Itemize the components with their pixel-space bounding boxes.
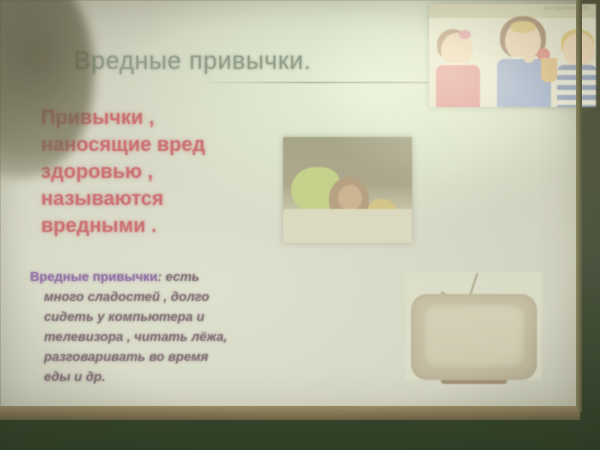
screen-right-frame [576,0,582,412]
photo-projection-wash [283,137,412,243]
child-in-bed-photo [283,137,412,243]
children-cartoon-image: Астраханцев [429,4,596,107]
headline-line-3: здоровью , [41,159,291,186]
cartoon-projection-wash [429,4,596,107]
tv-projection-wash [405,272,542,380]
projected-slide-photo: Вредные привычки. Привычки , наносящие в… [0,0,600,450]
television-illustration [405,272,542,380]
paragraph-line-6: еды и др. [30,367,280,387]
paragraph-line-1: Вредные привычки: есть [30,267,280,287]
paragraph-line-4: телевизора , читать лёжа, [30,327,280,347]
paragraph-line-2: много сладостей , долго [30,287,280,307]
page-title: Вредные привычки. [74,47,311,76]
paragraph-line-5: разговаривать во время [30,347,280,367]
paragraph-lead-label: Вредные привычки [30,269,158,284]
screen-bottom-frame [0,406,580,420]
body-paragraph-block: Вредные привычки: есть много сладостей ,… [30,267,280,387]
paragraph-line-3: сидеть у компьютера и [30,307,280,327]
projection-screen: Вредные привычки. Привычки , наносящие в… [0,0,579,409]
paragraph-line-1-rest: : есть [158,269,200,284]
headline-line-5: вредными . [41,213,291,240]
headline-line-4: называются [41,186,291,213]
